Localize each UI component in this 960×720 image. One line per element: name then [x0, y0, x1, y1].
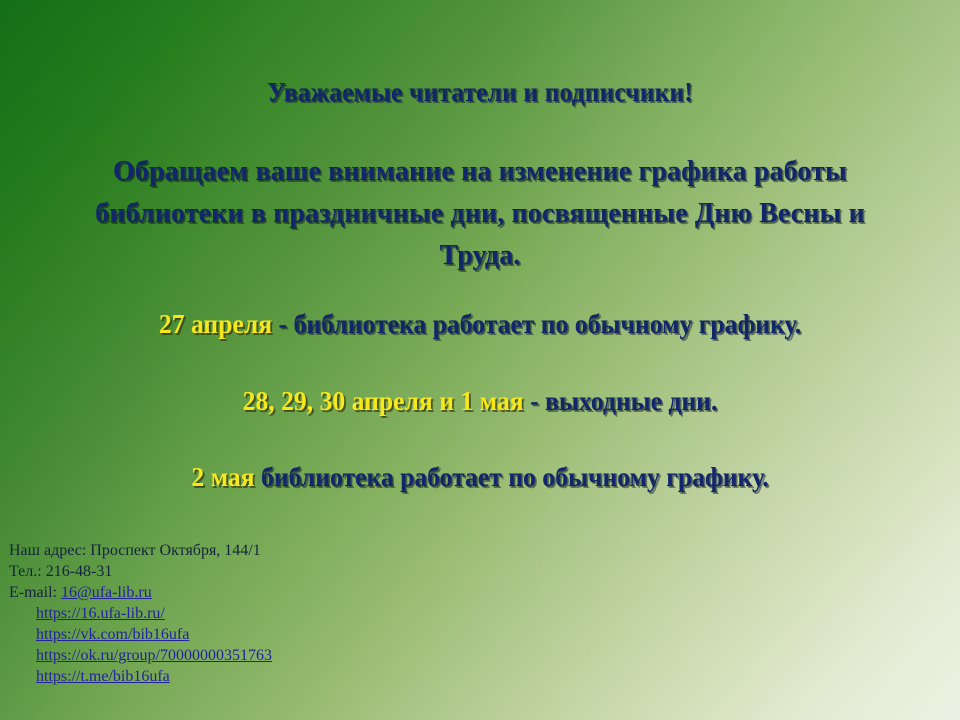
schedule-date-3: 2 мая — [191, 462, 254, 492]
link-row-ok: https://ok.ru/group/70000000351763 — [36, 645, 272, 666]
schedule-text-1: библиотека работает по обычному графику. — [294, 309, 802, 339]
schedule-line-2: 28, 29, 30 апреля и 1 мая - выходные дни… — [24, 385, 936, 417]
link-ok[interactable]: https://ok.ru/group/70000000351763 — [36, 647, 272, 664]
contact-email-row: E-mail: 16@ufa-lib.ru — [9, 582, 272, 603]
schedule-line-3: 2 мая библиотека работает по обычному гр… — [24, 461, 936, 493]
schedule-text-2: выходные дни. — [545, 386, 717, 416]
contact-email-label: E-mail: — [9, 584, 61, 601]
slide-content: Уважаемые читатели и подписчики! Обращае… — [0, 0, 960, 720]
contact-email-link[interactable]: 16@ufa-lib.ru — [61, 584, 152, 601]
contact-phone: Тел.: 216-48-31 — [9, 561, 272, 582]
page-title: Уважаемые читатели и подписчики! — [29, 76, 931, 108]
link-row-vk: https://vk.com/bib16ufa — [36, 624, 272, 645]
schedule-date-2: 28, 29, 30 апреля и 1 мая — [243, 386, 524, 416]
link-row-telegram: https://t.me/bib16ufa — [36, 666, 272, 687]
schedule-text-3: библиотека работает по обычному графику. — [261, 462, 769, 492]
schedule-date-1: 27 апреля — [159, 309, 272, 339]
link-website[interactable]: https://16.ufa-lib.ru/ — [36, 605, 165, 622]
schedule-separator-1: - — [272, 309, 293, 339]
contact-link-list: https://16.ufa-lib.ru/ https://vk.com/bi… — [9, 603, 272, 687]
schedule-separator-2: - — [524, 386, 545, 416]
link-vk[interactable]: https://vk.com/bib16ufa — [36, 626, 189, 643]
link-telegram[interactable]: https://t.me/bib16ufa — [36, 668, 170, 685]
contact-address: Наш адрес: Проспект Октября, 144/1 — [9, 540, 272, 561]
announcement-slide: Уважаемые читатели и подписчики! Обращае… — [0, 0, 960, 720]
intro-paragraph: Обращаем ваше внимание на изменение граф… — [19, 150, 941, 276]
contact-block: Наш адрес: Проспект Октября, 144/1 Тел.:… — [9, 540, 272, 687]
link-row-website: https://16.ufa-lib.ru/ — [36, 603, 272, 624]
schedule-line-1: 27 апреля - библиотека работает по обычн… — [24, 308, 936, 340]
